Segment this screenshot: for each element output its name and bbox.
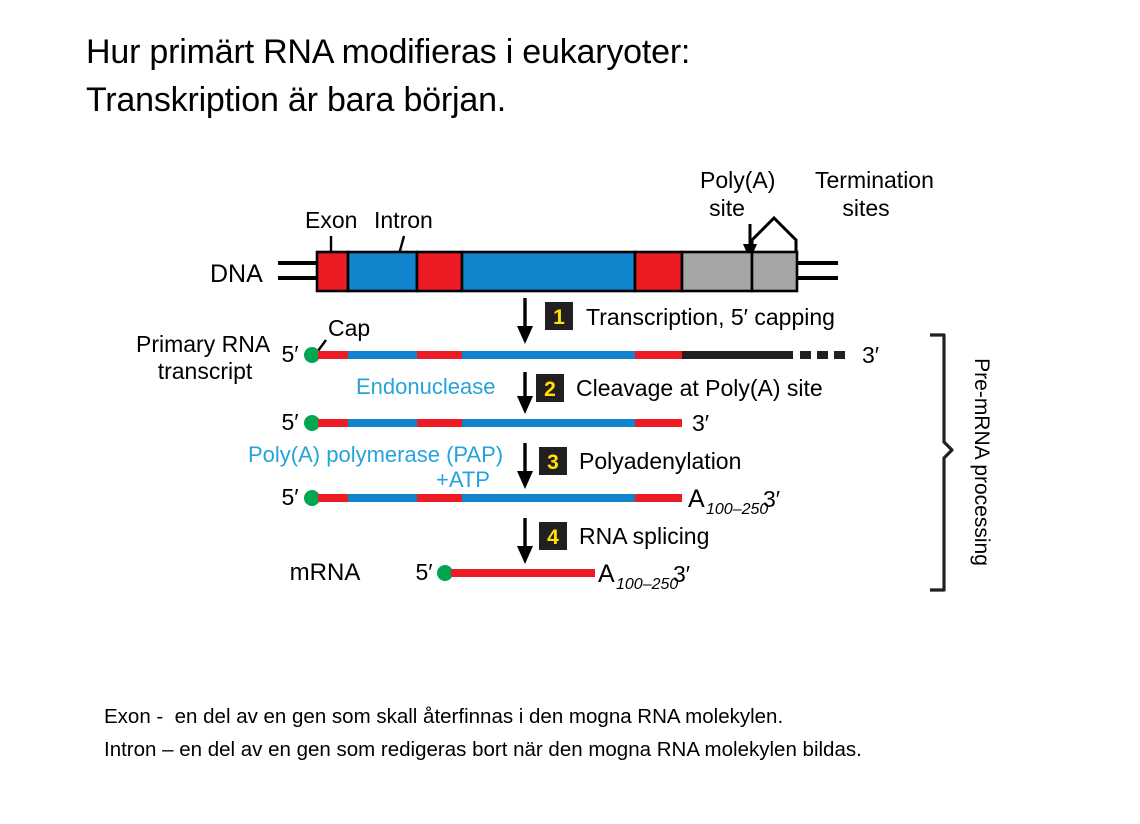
polyadenylated-exon-2: [417, 494, 462, 502]
step-4-number: 4: [547, 526, 559, 549]
intron-callout-label: Intron: [374, 207, 433, 233]
cleaved-intron-1: [348, 419, 417, 427]
mrna-poly-a-letter: A: [598, 560, 615, 588]
primary-transcript-label-line2: transcript: [158, 358, 253, 384]
primary-intron-1: [348, 351, 417, 359]
primary-exon-2: [417, 351, 462, 359]
step-4-group: 4 RNA splicing: [517, 518, 709, 564]
step-2-arrow: [517, 372, 533, 414]
primary-transcript-dashes: [800, 351, 845, 359]
polyadenylated-intron-1: [348, 494, 417, 502]
dna-gene-blocks: [317, 252, 797, 291]
step-3-enzyme-label: Poly(A) polymerase (PAP): [248, 442, 503, 467]
page-title-line-2: Transkription är bara början.: [86, 76, 1046, 124]
cleaved-cap-dot: [304, 415, 320, 431]
termination-sites-label-line1: Termination: [815, 167, 934, 193]
definitions-block: Exon - en del av en gen som skall återfi…: [104, 700, 1084, 766]
polyadenylated-intron-2: [462, 494, 635, 502]
mrna-cap-dot: [437, 565, 453, 581]
dna-terminator-region-2: [752, 252, 797, 291]
dna-exon-2: [417, 252, 462, 291]
mrna-exon-body: [451, 569, 595, 577]
cleaved-intron-2: [462, 419, 635, 427]
step-1-arrow: [517, 298, 533, 344]
polyadenylated-poly-a-subscript: 100–250: [706, 501, 768, 518]
pre-mrna-processing-label: Pre-mRNA processing: [970, 358, 993, 566]
dna-intron-2: [462, 252, 635, 291]
primary-transcript-3prime: 3′: [862, 342, 879, 368]
step-2-enzyme-label: Endonuclease: [356, 374, 495, 399]
cleaved-transcript-5prime: 5′: [281, 409, 298, 435]
termination-sites-marker: [752, 218, 796, 252]
step-3-enzyme-label-line2: +ATP: [436, 467, 490, 492]
primary-exon-3: [635, 351, 682, 359]
step-3-number: 3: [547, 451, 559, 474]
termination-sites-label-line2: sites: [842, 195, 889, 221]
polyadenylated-exon-3: [635, 494, 682, 502]
exon-callout-label: Exon: [305, 207, 357, 233]
dna-terminator-region-1: [682, 252, 752, 291]
dna-exon-3: [635, 252, 682, 291]
dna-right-strands: [797, 263, 838, 278]
dna-label: DNA: [210, 260, 263, 288]
primary-intron-2: [462, 351, 635, 359]
polyadenylated-poly-a-letter: A: [688, 485, 705, 513]
cleaved-transcript-3prime: 3′: [692, 410, 709, 436]
polyadenylated-5prime: 5′: [281, 484, 298, 510]
polya-site-label-line2: site: [709, 195, 745, 221]
mrna-3prime: 3′: [673, 561, 690, 587]
polyadenylated-3prime: 3′: [763, 486, 780, 512]
polyadenylated-transcript-row: 5′ A 100–250 3′: [281, 484, 780, 518]
cleaved-transcript-row: 5′ 3′: [281, 409, 709, 436]
page-title: Hur primärt RNA modifieras i eukaryoter:…: [86, 28, 1046, 125]
cap-label: Cap: [328, 315, 370, 341]
dna-row: Exon Intron Poly(A) site Termination sit…: [210, 167, 934, 291]
pre-mrna-processing-bracket: [930, 335, 952, 590]
definition-intron: Intron – en del av en gen som redigeras …: [104, 733, 1084, 766]
polyadenylated-exon-1: [318, 494, 348, 502]
primary-transcript-5prime: 5′: [281, 341, 298, 367]
cleaved-exon-3: [635, 419, 682, 427]
step-3-arrow: [517, 443, 533, 489]
step-2-group: Endonuclease 2 Cleavage at Poly(A) site: [356, 372, 823, 414]
pre-mrna-processing-bracket-group: Pre-mRNA processing: [930, 335, 993, 590]
step-2-label: Cleavage at Poly(A) site: [576, 375, 823, 401]
definition-exon: Exon - en del av en gen som skall återfi…: [104, 700, 1084, 733]
primary-downstream-tail: [682, 351, 793, 359]
step-3-label: Polyadenylation: [579, 448, 741, 474]
dna-left-strands: [278, 263, 317, 278]
polyadenylated-cap-dot: [304, 490, 320, 506]
step-1-group: 1 Transcription, 5′ capping: [517, 298, 835, 344]
polya-site-label-line1: Poly(A): [700, 167, 775, 193]
mrna-row: mRNA 5′ A 100–250 3′: [290, 559, 690, 593]
mrna-5prime: 5′: [415, 559, 432, 585]
step-4-arrow: [517, 518, 533, 564]
rna-processing-diagram: Exon Intron Poly(A) site Termination sit…: [0, 150, 1140, 620]
step-1-label: Transcription, 5′ capping: [586, 304, 835, 330]
cleaved-exon-1: [318, 419, 348, 427]
dna-intron-1: [348, 252, 417, 291]
step-4-label: RNA splicing: [579, 523, 709, 549]
step-3-group: Poly(A) polymerase (PAP) +ATP 3 Polyaden…: [248, 442, 741, 492]
cap-dot: [304, 347, 320, 363]
mrna-label: mRNA: [290, 559, 361, 586]
primary-transcript-label-line1: Primary RNA: [136, 331, 271, 357]
mrna-poly-a-subscript: 100–250: [616, 576, 678, 593]
step-2-number: 2: [544, 378, 556, 401]
cleaved-exon-2: [417, 419, 462, 427]
step-1-number: 1: [553, 306, 565, 329]
primary-exon-1: [318, 351, 348, 359]
page-title-line-1: Hur primärt RNA modifieras i eukaryoter:: [86, 28, 1046, 76]
dna-exon-1: [317, 252, 348, 291]
